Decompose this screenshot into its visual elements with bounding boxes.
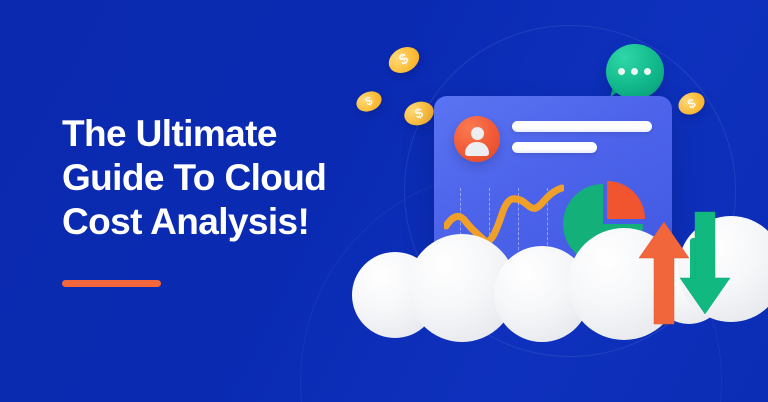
avatar (454, 116, 500, 162)
coin-symbol: $ (353, 88, 384, 115)
chat-bubble-icon (606, 44, 664, 99)
text-placeholder-bar (512, 142, 597, 153)
coin-symbol: $ (401, 98, 437, 129)
banner: The Ultimate Guide To Cloud Cost Analysi… (0, 0, 768, 402)
chat-dot (631, 68, 638, 75)
text-placeholder-bar (512, 121, 652, 132)
coin-icon: $ (401, 98, 437, 129)
coin-icon: $ (675, 88, 708, 118)
avatar-body-icon (465, 142, 489, 156)
arrow-down-icon (678, 208, 732, 316)
coin-icon: $ (384, 42, 424, 78)
chat-dot (618, 68, 625, 75)
avatar-head-icon (471, 127, 484, 140)
coin-symbol: $ (675, 88, 708, 118)
illustration: $ $ $ $ (0, 0, 768, 402)
coin-symbol: $ (384, 42, 424, 78)
coin-icon: $ (353, 88, 384, 115)
chat-dot (644, 68, 651, 75)
